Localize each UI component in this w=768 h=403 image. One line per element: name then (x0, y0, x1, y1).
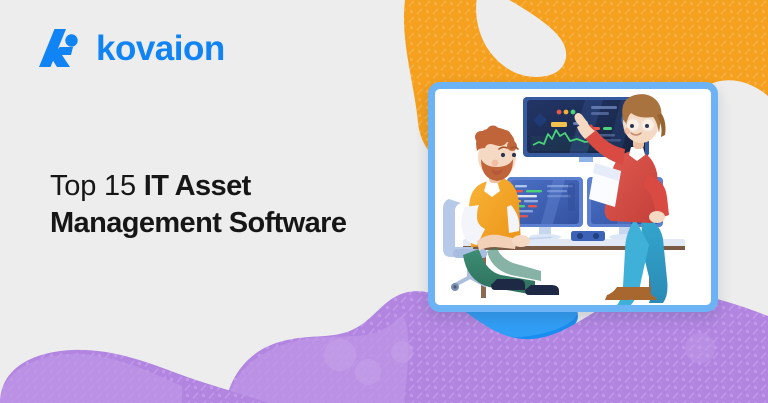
illustration-card (428, 82, 718, 312)
brand-logo[interactable]: kovaion (38, 27, 225, 69)
headline-line-2: Management Software (50, 205, 430, 242)
headline-light-text: Top 15 (50, 170, 144, 202)
kovaion-k-mark-icon (38, 27, 86, 69)
page-title: Top 15 IT Asset Management Software (50, 168, 430, 242)
brand-wordmark: kovaion (96, 31, 225, 66)
headline-line-1: Top 15 IT Asset (50, 168, 430, 205)
headline-bold-text-1: IT Asset (144, 170, 251, 202)
office-scene-illustration (435, 89, 711, 305)
speaker-device (571, 231, 605, 241)
poster-canvas: kovaion Top 15 IT Asset Management Softw… (0, 0, 768, 403)
